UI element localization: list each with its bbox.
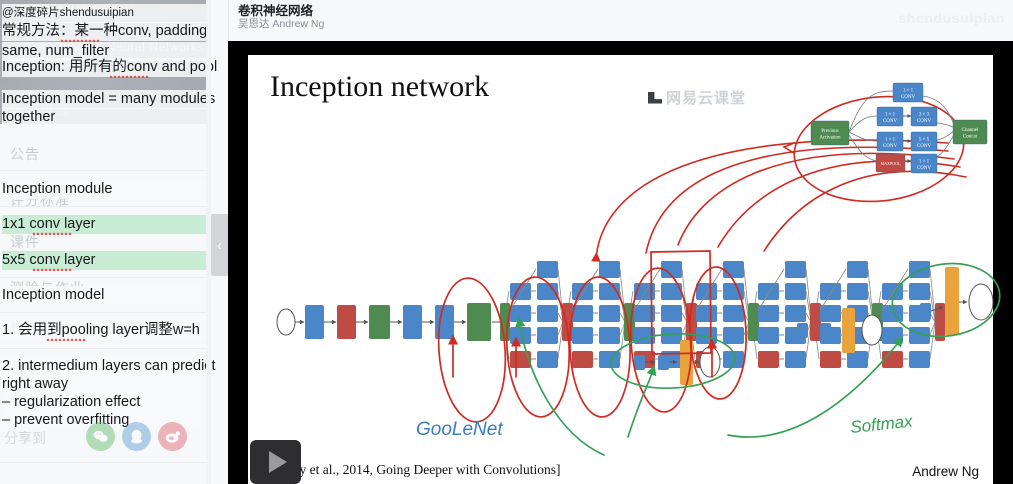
note-line-11: 2. intermedium layers can predict — [2, 357, 206, 376]
svg-text:MAXPOOL: MAXPOOL — [881, 161, 901, 166]
spellcheck-squiggle-3 — [109, 74, 149, 78]
handwriting-softmax: Softmax — [849, 412, 913, 437]
note-line-5: together — [2, 108, 206, 127]
svg-text:CONV: CONV — [883, 119, 898, 124]
note-line-0: @深度碎片shendusuipian — [2, 4, 206, 23]
netease-course-player: 学习进度公告评分标准课件测验与作业教辅讨论区 deeplearning.aiCo… — [0, 0, 1013, 484]
svg-text:CONV: CONV — [917, 166, 932, 171]
ghost-menu-item-1[interactable]: 公告 — [10, 144, 40, 164]
course-header: 卷积神经网络 吴恩达 Andrew Ng shendusuipian — [228, 0, 1013, 41]
note-line-10: 1. 会用到pooling layer调整w=h — [2, 321, 206, 340]
course-author: 吴恩达 Andrew Ng — [238, 16, 324, 31]
play-triangle-icon — [269, 451, 287, 473]
weibo-share-icon[interactable] — [158, 422, 187, 451]
notes-sidebar[interactable]: 学习进度公告评分标准课件测验与作业教辅讨论区 deeplearning.aiCo… — [0, 0, 228, 484]
svg-text:Previous: Previous — [821, 129, 839, 134]
wechat-share-icon[interactable] — [86, 422, 115, 451]
svg-text:Concat: Concat — [963, 134, 978, 139]
video-stage[interactable]: Inception network 网易云课堂 — [228, 41, 1013, 484]
handwriting-googlenet: GooLeNet — [416, 419, 503, 440]
slide-citation: egedy et al., 2014, Going Deeper with Co… — [274, 462, 560, 478]
spellcheck-squiggle-8 — [32, 267, 72, 271]
spellcheck-squiggle-7 — [32, 231, 72, 235]
header-watermark: shendusuipian — [898, 10, 1005, 26]
note-line-12: right away — [2, 375, 206, 394]
svg-text:Channel: Channel — [962, 128, 979, 133]
ghost-menu-item-3[interactable]: 课件 — [10, 232, 40, 252]
note-line-3: Inception: 用所有的conv and pool — [2, 58, 206, 77]
spellcheck-squiggle-10 — [46, 337, 86, 341]
svg-text:Activation: Activation — [819, 135, 841, 140]
note-line-4: Inception model = many modules — [2, 90, 206, 109]
note-line-13: – regularization effect — [2, 393, 206, 412]
note-line-6: Inception module — [2, 180, 206, 199]
svg-text:1 × 1: 1 × 1 — [919, 160, 930, 165]
svg-text:1 × 1: 1 × 1 — [885, 113, 896, 118]
slide-signature: Andrew Ng — [912, 464, 979, 479]
share-row: 分享到 — [0, 418, 206, 458]
lecture-slide: Inception network 网易云课堂 — [248, 55, 993, 484]
svg-text:CONV: CONV — [917, 119, 932, 124]
note-line-1: 常规方法：某一种conv, padding — [2, 22, 206, 41]
svg-text:CONV: CONV — [883, 144, 898, 149]
note-line-9: Inception model — [2, 286, 206, 305]
share-label: 分享到 — [4, 428, 46, 448]
svg-text:1 × 1: 1 × 1 — [903, 89, 914, 94]
qq-share-icon[interactable] — [122, 422, 151, 451]
inception-module-inset: PreviousActivation1 × 1CONV1 × 1CONV3 × … — [793, 75, 993, 195]
svg-text:3 × 3: 3 × 3 — [919, 113, 930, 118]
sidebar-collapse-handle[interactable]: ‹ — [211, 214, 228, 276]
svg-text:CONV: CONV — [901, 95, 916, 100]
play-button[interactable] — [250, 440, 301, 484]
svg-text:1 × 1: 1 × 1 — [885, 138, 896, 143]
svg-text:CONV: CONV — [917, 144, 932, 149]
svg-text:5 × 5: 5 × 5 — [919, 138, 930, 143]
